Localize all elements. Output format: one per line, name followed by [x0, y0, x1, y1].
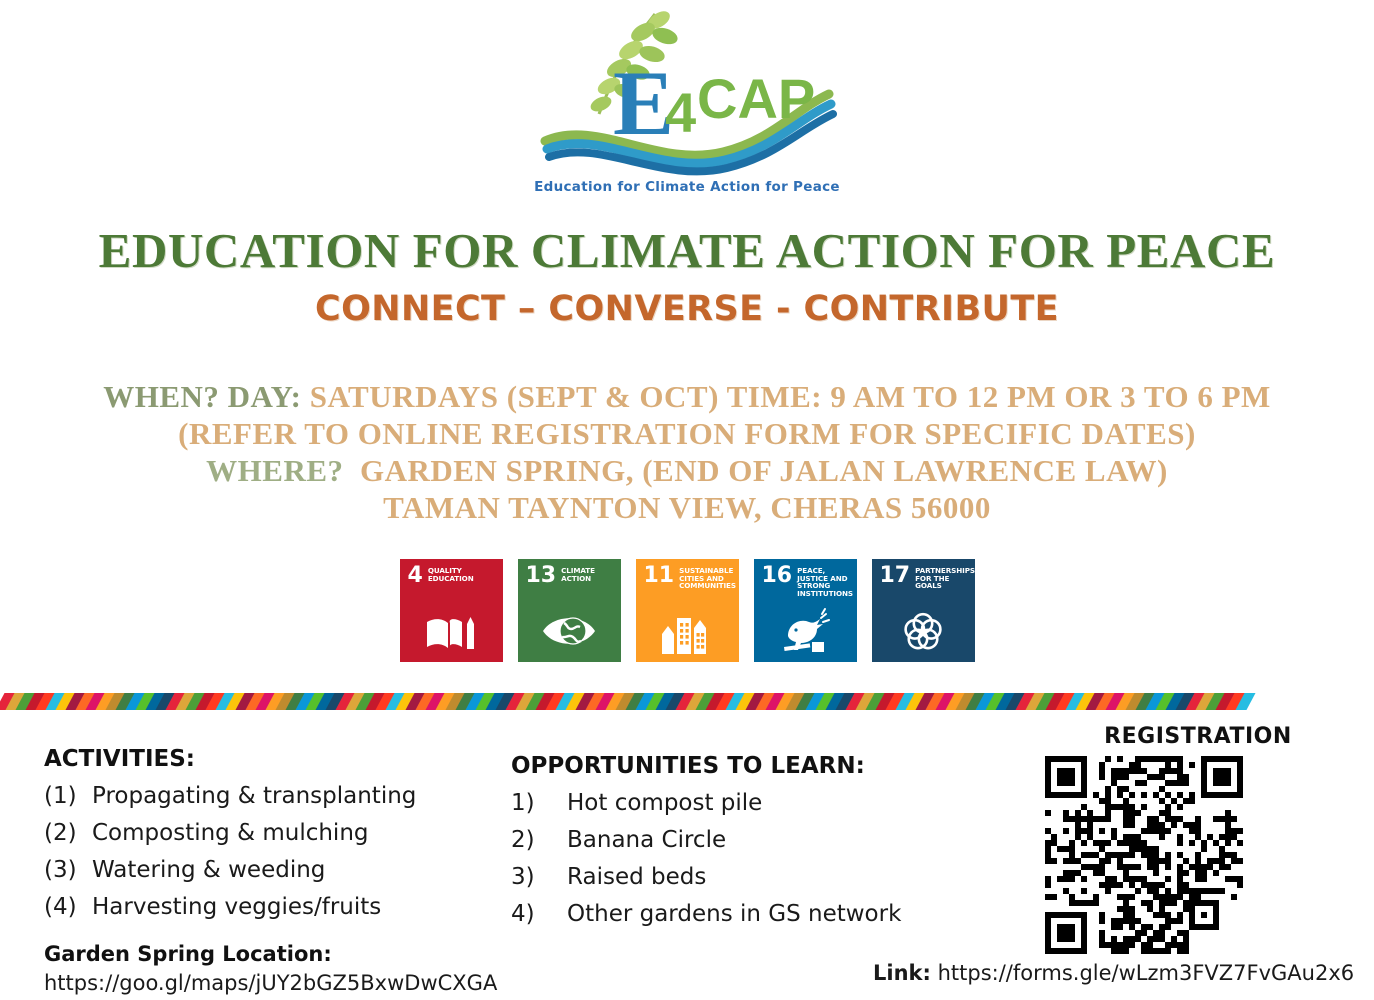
event-details: WHEN? DAY: SATURDAYS (SEPT & OCT) TIME: …: [0, 378, 1374, 526]
learn-heading: OPPORTUNITIES TO LEARN:: [511, 753, 991, 779]
sdg-goal-row: 4QUALITY EDUCATION13CLIMATE ACTION11SUST…: [0, 559, 1374, 662]
logo-text-cap: CAP: [697, 67, 815, 130]
registration-link-url[interactable]: https://forms.gle/wLzm3FVZ7FvGAu2x6: [938, 961, 1355, 985]
sdg-goal-title: SUSTAINABLE CITIES AND COMMUNITIES: [679, 567, 738, 590]
list-item-number: (2): [44, 815, 92, 852]
activities-column: ACTIVITIES: (1)Propagating & transplanti…: [44, 746, 504, 995]
book-pencil-icon: [400, 604, 503, 656]
registration-qr-code[interactable]: [1045, 756, 1243, 954]
garden-location-label: Garden Spring Location:: [44, 942, 504, 966]
list-item-number: 4): [511, 896, 567, 933]
list-item-number: 2): [511, 822, 567, 859]
list-item-number: 3): [511, 859, 567, 896]
sdg-goal-header: 13CLIMATE ACTION: [518, 559, 621, 584]
list-item-text: Hot compost pile: [567, 785, 762, 822]
sdg-goal-number: 4: [408, 567, 423, 584]
list-item: 3)Raised beds: [511, 859, 991, 896]
logo-mark: E 4 CAP: [537, 6, 837, 181]
detail-line-address: TAMAN TAYNTON VIEW, CHERAS 56000: [0, 489, 1374, 526]
activities-heading: ACTIVITIES:: [44, 746, 504, 772]
list-item-text: Banana Circle: [567, 822, 726, 859]
sdg-goal-17: 17PARTNERSHIPS FOR THE GOALS: [872, 559, 975, 662]
sdg-goal-header: 4QUALITY EDUCATION: [400, 559, 503, 584]
list-item-text: Watering & weeding: [92, 852, 325, 889]
list-item: (1)Propagating & transplanting: [44, 778, 504, 815]
sdg-goal-number: 16: [762, 567, 793, 584]
registration-title: REGISTRATION: [1055, 724, 1341, 749]
logo-tagline: Education for Climate Action for Peace: [534, 179, 840, 195]
registration-column: REGISTRATION Link: https://forms.gle/wLz…: [1013, 724, 1353, 985]
list-item-number: (1): [44, 778, 92, 815]
list-item-text: Raised beds: [567, 859, 706, 896]
where-label: WHERE?: [206, 453, 343, 488]
list-item-text: Composting & mulching: [92, 815, 369, 852]
city-buildings-icon: [636, 604, 739, 656]
list-item-number: 1): [511, 785, 567, 822]
garden-location-url[interactable]: https://goo.gl/maps/jUY2bGZ5BxwDwCXGA: [44, 971, 504, 995]
list-item-text: Harvesting veggies/fruits: [92, 889, 381, 926]
list-item: 4)Other gardens in GS network: [511, 896, 991, 933]
poster-subheadline: CONNECT – CONVERSE - CONTRIBUTE: [0, 289, 1374, 329]
when-label: WHEN? DAY:: [103, 379, 301, 414]
sdg-goal-title: PEACE, JUSTICE AND STRONG INSTITUTIONS: [797, 567, 856, 597]
sdg-goal-16: 16PEACE, JUSTICE AND STRONG INSTITUTIONS: [754, 559, 857, 662]
eye-globe-icon: [518, 604, 621, 656]
activities-list: (1)Propagating & transplanting(2)Compost…: [44, 778, 504, 926]
sdg-goal-number: 13: [526, 567, 557, 584]
list-item: (3)Watering & weeding: [44, 852, 504, 889]
sdg-goal-title: QUALITY EDUCATION: [428, 567, 494, 582]
sdg-goal-title: CLIMATE ACTION: [561, 567, 620, 582]
poster-bottom-section: ACTIVITIES: (1)Propagating & transplanti…: [0, 710, 1374, 1000]
sdg-goal-number: 11: [644, 567, 675, 584]
detail-line-dates: (REFER TO ONLINE REGISTRATION FORM FOR S…: [0, 415, 1374, 452]
where-value: GARDEN SPRING, (END OF JALAN LAWRENCE LA…: [360, 453, 1168, 488]
list-item: 2)Banana Circle: [511, 822, 991, 859]
sdg-goal-13: 13CLIMATE ACTION: [518, 559, 621, 662]
sdg-goal-header: 16PEACE, JUSTICE AND STRONG INSTITUTIONS: [754, 559, 857, 597]
sdg-goal-11: 11SUSTAINABLE CITIES AND COMMUNITIES: [636, 559, 739, 662]
detail-line-when: WHEN? DAY: SATURDAYS (SEPT & OCT) TIME: …: [0, 378, 1374, 415]
sdg-goal-4: 4QUALITY EDUCATION: [400, 559, 503, 662]
logo-number-4: 4: [665, 81, 696, 144]
detail-line-where: WHERE? GARDEN SPRING, (END OF JALAN LAWR…: [0, 452, 1374, 489]
list-item: 1)Hot compost pile: [511, 785, 991, 822]
list-item-number: (3): [44, 852, 92, 889]
list-item-text: Propagating & transplanting: [92, 778, 416, 815]
sdg-color-stripe-divider: [0, 693, 1374, 710]
registration-link[interactable]: Link: https://forms.gle/wLzm3FVZ7FvGAu2x…: [873, 961, 1353, 985]
e4cap-logo: E 4 CAP Education for Climate Action for…: [0, 6, 1374, 216]
registration-link-label: Link:: [873, 961, 931, 985]
garden-location-block: Garden Spring Location: https://goo.gl/m…: [44, 942, 504, 995]
sdg-goal-number: 17: [880, 567, 911, 584]
sdg-goal-header: 17PARTNERSHIPS FOR THE GOALS: [872, 559, 975, 590]
learn-list: 1)Hot compost pile2)Banana Circle3)Raise…: [511, 785, 991, 933]
when-value: SATURDAYS (SEPT & OCT) TIME: 9 AM TO 12 …: [310, 379, 1271, 414]
dove-gavel-icon: [754, 604, 857, 656]
list-item-text: Other gardens in GS network: [567, 896, 901, 933]
list-item: (4)Harvesting veggies/fruits: [44, 889, 504, 926]
poster-top-section: E 4 CAP Education for Climate Action for…: [0, 0, 1374, 695]
poster-headline: EDUCATION FOR CLIMATE ACTION FOR PEACE: [0, 222, 1374, 279]
interlocking-circles-icon: [872, 604, 975, 656]
sdg-goal-title: PARTNERSHIPS FOR THE GOALS: [915, 567, 974, 590]
list-item: (2)Composting & mulching: [44, 815, 504, 852]
sdg-goal-header: 11SUSTAINABLE CITIES AND COMMUNITIES: [636, 559, 739, 590]
learn-column: OPPORTUNITIES TO LEARN: 1)Hot compost pi…: [511, 753, 991, 933]
list-item-number: (4): [44, 889, 92, 926]
